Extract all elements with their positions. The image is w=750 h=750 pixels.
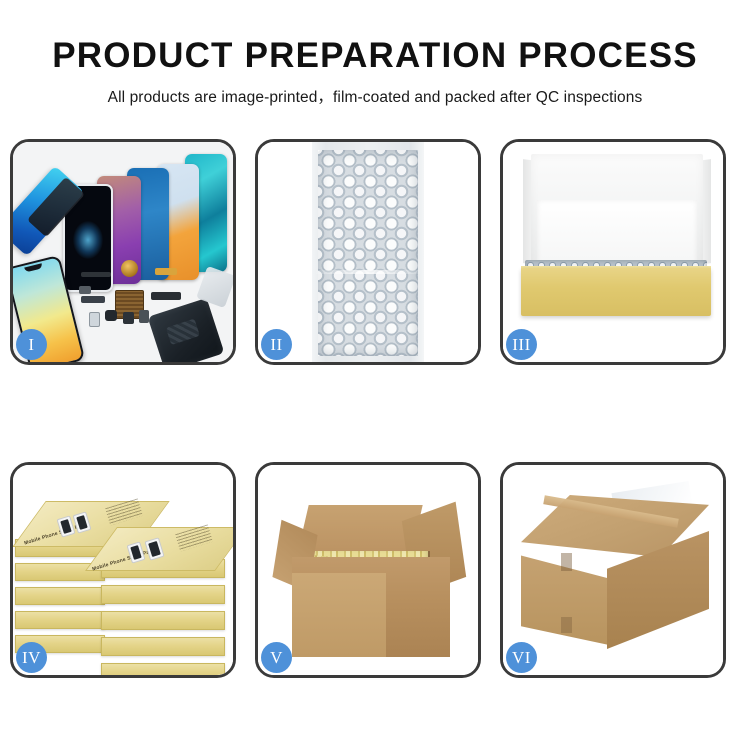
bubble-wrap-bubbles [318,150,418,356]
step-badge-2: II [261,329,292,360]
box-stack: Mobile Phone Spare Parts Mobile Phone Sp… [15,487,227,673]
header: PRODUCT PREPARATION PROCESS All products… [0,0,750,107]
stacked-box-edge [101,585,225,604]
step-image-1 [13,142,233,362]
steps-grid: I II [10,139,740,678]
step-panel-5: V [255,462,481,678]
flex-cable-gold-part [155,268,177,275]
step-image-4: Mobile Phone Spare Parts Mobile Phone Sp… [13,465,233,675]
stacked-box-edge [15,611,105,629]
mailer-kraft-tray [521,268,711,316]
step-image-5 [258,465,478,675]
step-badge-3: III [506,329,537,360]
stacked-box-edge [15,587,105,605]
bubble-wrap-sheet [312,142,424,362]
page-subtitle: All products are image-printed，film-coat… [0,75,750,107]
step-panel-4: Mobile Phone Spare Parts Mobile Phone Sp… [10,462,236,678]
bubble-wrap-scene [258,142,478,362]
step-panel-2: II [255,139,481,365]
step-badge-4: IV [16,642,47,673]
coil-part [121,260,138,277]
step-image-2 [258,142,478,362]
connector-strip-part [81,272,111,277]
bubble-wrap-seam [316,270,420,274]
stacked-box-edge [101,611,225,630]
sim-tray-part [89,312,100,327]
flex-cable-dark-part [151,292,181,300]
camera-module-part [105,310,117,321]
stacked-box-edge [101,637,225,656]
step-panel-6: VI [500,462,726,678]
speaker-part [123,312,134,324]
sealed-carton-scene [503,465,723,675]
step-image-6 [503,465,723,675]
stacked-box-edge [101,663,225,675]
phone-display-fan [13,142,233,270]
open-carton-scene [258,465,478,675]
mailer-box-scene [503,142,723,362]
small-component-part [79,286,91,294]
step-badge-5: V [261,642,292,673]
carton-seam-upper [561,553,572,571]
step-image-3 [503,142,723,362]
box-stack-scene: Mobile Phone Spare Parts Mobile Phone Sp… [13,465,233,675]
step-panel-1: I [10,139,236,365]
battery-connector-part [139,310,149,323]
step-badge-6: VI [506,642,537,673]
step-badge-1: I [16,329,47,360]
page-title: PRODUCT PREPARATION PROCESS [0,0,750,75]
spare-parts-group [59,254,229,360]
flex-cable-grey-part [81,296,105,303]
step-panel-3: III [500,139,726,365]
product-preparation-infographic: PRODUCT PREPARATION PROCESS All products… [0,0,750,750]
carton-front-face [292,573,386,657]
carton-seam-lower [561,617,572,633]
phone-back-housing [148,298,225,362]
